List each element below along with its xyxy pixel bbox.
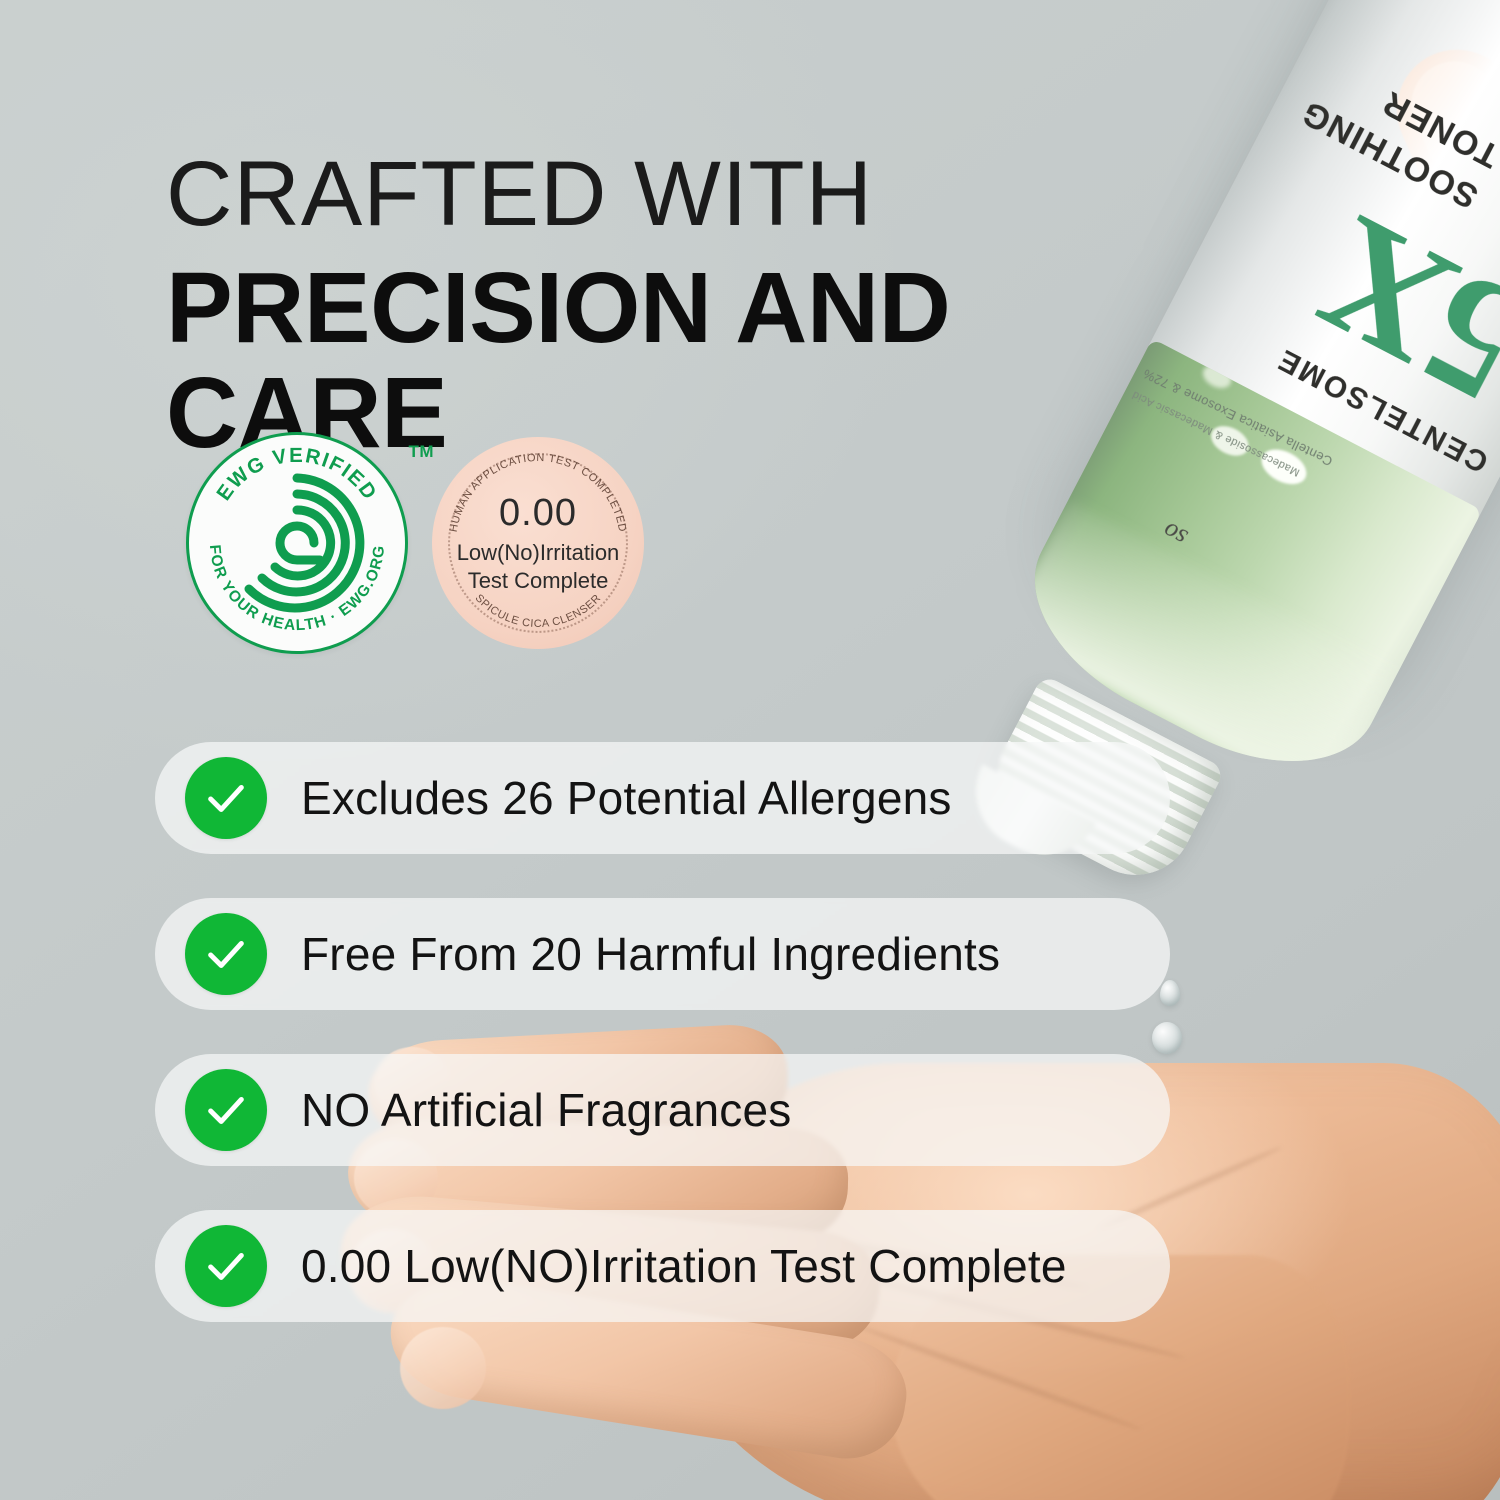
ewg-badge-artwork: EWG VERIFIED · FOR YOUR HEALTH · EWG.ORG…	[186, 432, 408, 654]
feature-list: Excludes 26 Potential Allergens Free Fro…	[155, 742, 1170, 1322]
feature-label: NO Artificial Fragrances	[301, 1083, 792, 1137]
check-circle-icon	[185, 1225, 267, 1307]
list-item: Excludes 26 Potential Allergens	[155, 742, 1170, 854]
trademark-icon: TM	[408, 442, 434, 462]
list-item: NO Artificial Fragrances	[155, 1054, 1170, 1166]
irritation-badge-center: 0.00 Low(No)Irritation Test Complete	[432, 493, 644, 596]
feature-label: Free From 20 Harmful Ingredients	[301, 927, 1000, 981]
ewg-verified-badge: EWG VERIFIED · FOR YOUR HEALTH · EWG.ORG…	[186, 432, 408, 654]
irritation-center-line-1: Low(No)Irritation	[432, 539, 644, 568]
certification-badges: EWG VERIFIED · FOR YOUR HEALTH · EWG.ORG…	[186, 432, 644, 654]
feature-label: Excludes 26 Potential Allergens	[301, 771, 952, 825]
headline-line-1: CRAFTED WITH	[166, 148, 1216, 242]
irritation-center-line-2: Test Complete	[432, 567, 644, 596]
irritation-score: 0.00	[432, 493, 644, 535]
list-item: 0.00 Low(NO)Irritation Test Complete	[155, 1210, 1170, 1322]
check-circle-icon	[185, 1069, 267, 1151]
list-item: Free From 20 Harmful Ingredients	[155, 898, 1170, 1010]
check-circle-icon	[185, 913, 267, 995]
svg-text:SPICULE CICA CLENSER: SPICULE CICA CLENSER	[473, 592, 604, 630]
page-title: CRAFTED WITH PRECISION AND CARE	[166, 148, 1216, 466]
product-infographic: so Madecassoside & Madecassic Acid Cente…	[0, 0, 1500, 1500]
check-circle-icon	[185, 757, 267, 839]
feature-label: 0.00 Low(NO)Irritation Test Complete	[301, 1239, 1067, 1293]
fingernail	[400, 1327, 486, 1409]
irritation-test-badge: HUMAN APPLICATION TEST COMPLETED SPICULE…	[432, 437, 644, 649]
